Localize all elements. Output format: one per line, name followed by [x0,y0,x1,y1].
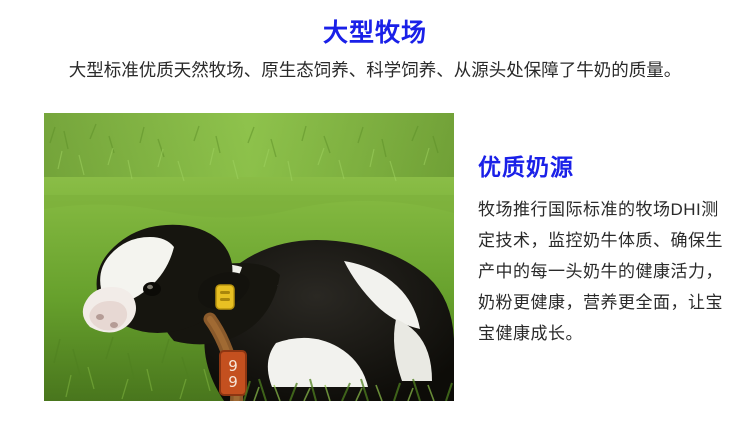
right-column: 优质奶源 牧场推行国际标准的牧场DHI测定技术，监控奶牛体质、确保生产中的每一头… [478,152,728,349]
page-subtitle: 大型标准优质天然牧场、原生态饲养、科学饲养、从源头处保障了牛奶的质量。 [0,57,750,83]
pasture-cow-photo: 9 9 [44,113,454,401]
section-body-quality-milk-source: 牧场推行国际标准的牧场DHI测定技术，监控奶牛体质、确保生产中的每一头奶牛的健康… [478,194,728,349]
section-title-quality-milk-source: 优质奶源 [478,152,728,182]
svg-text:9: 9 [228,373,238,391]
page-title: 大型牧场 [0,17,750,49]
pasture-cow-illustration: 9 9 [44,113,454,401]
promo-page: 大型牧场 大型标准优质天然牧场、原生态饲养、科学饲养、从源头处保障了牛奶的质量。 [0,0,750,434]
